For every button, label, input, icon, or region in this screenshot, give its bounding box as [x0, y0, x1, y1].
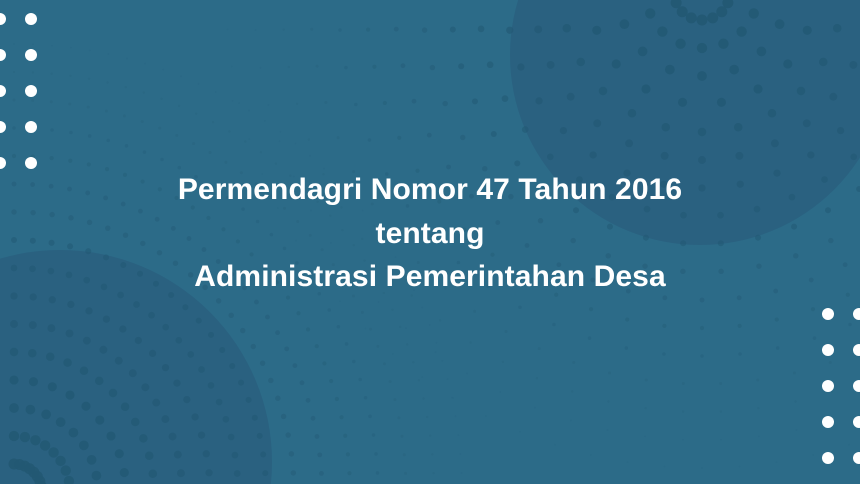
- accent-dot: [0, 121, 6, 133]
- white-dot-grid-bottom-right: [822, 308, 860, 464]
- white-dot-grid-top-left: [0, 13, 37, 169]
- accent-dot: [822, 344, 834, 356]
- accent-dot: [822, 308, 834, 320]
- accent-dot: [0, 85, 6, 97]
- accent-dot: [853, 452, 860, 464]
- title-line-3: Administrasi Pemerintahan Desa: [0, 255, 860, 299]
- accent-dot: [853, 344, 860, 356]
- accent-dot: [25, 49, 37, 61]
- accent-dot: [822, 380, 834, 392]
- title-line-2: tentang: [0, 212, 860, 256]
- accent-dot: [822, 416, 834, 428]
- accent-dot: [853, 308, 860, 320]
- accent-dot: [25, 13, 37, 25]
- title-line-1: Permendagri Nomor 47 Tahun 2016: [0, 168, 860, 212]
- accent-dot: [822, 452, 834, 464]
- accent-dot: [853, 380, 860, 392]
- accent-dot: [853, 416, 860, 428]
- accent-dot: [25, 121, 37, 133]
- page-title: Permendagri Nomor 47 Tahun 2016 tentang …: [0, 168, 860, 299]
- slide-canvas: Permendagri Nomor 47 Tahun 2016 tentang …: [0, 0, 860, 484]
- accent-dot: [0, 13, 6, 25]
- accent-dot: [25, 85, 37, 97]
- accent-dot: [0, 49, 6, 61]
